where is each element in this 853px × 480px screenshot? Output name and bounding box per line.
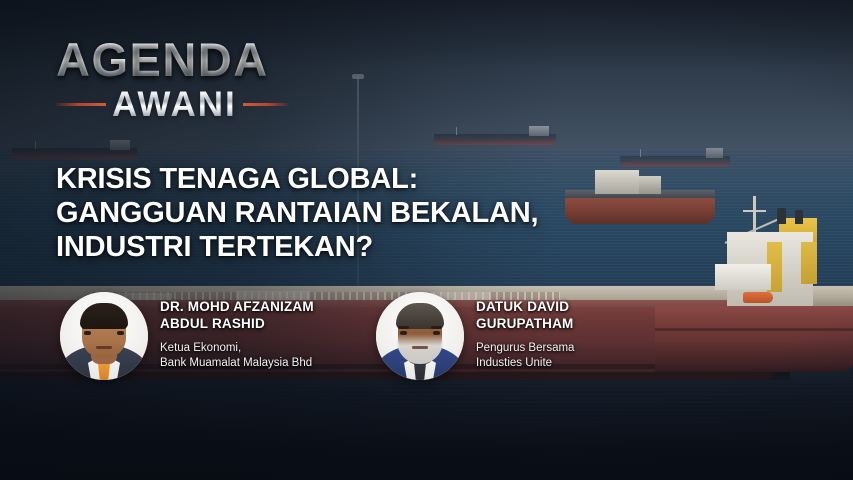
- speaker-2-role-line-2: Industies Unite: [476, 356, 574, 371]
- speaker-1-role-line-2: Bank Muamalat Malaysia Bhd: [160, 356, 314, 371]
- speaker-1-name-line-1: DR. MOHD AFZANIZAM: [160, 299, 314, 315]
- speaker-card-1: DR. MOHD AFZANIZAM ABDUL RASHID Ketua Ek…: [60, 292, 314, 380]
- ship-bridge: [715, 264, 771, 290]
- headline: KRISIS TENAGA GLOBAL: GANGGUAN RANTAIAN …: [56, 163, 676, 265]
- ship-mast: [35, 141, 36, 149]
- speaker-2-text: DATUK DAVID GURUPATHAM Pengurus Bersama …: [476, 299, 574, 372]
- speaker-1-avatar: [60, 292, 148, 380]
- logo-word-awani: AWANI: [112, 87, 237, 122]
- broadcast-thumbnail: AGENDA AWANI KRISIS TENAGA GLOBAL: GANGG…: [0, 0, 853, 480]
- ship-hull-stripe: [655, 328, 853, 331]
- speaker-2-name-line-2: GURUPATHAM: [476, 316, 574, 332]
- avatar-brow-left: [398, 326, 409, 329]
- headline-line-1: KRISIS TENAGA GLOBAL:: [56, 163, 676, 197]
- logo-accent-rule-left: [56, 103, 106, 106]
- sea-foreground-texture: [0, 382, 853, 480]
- distant-tanker-center: [434, 126, 556, 148]
- speaker-1-text: DR. MOHD AFZANIZAM ABDUL RASHID Ketua Ek…: [160, 299, 314, 372]
- logo-second-row: AWANI: [56, 85, 336, 123]
- ship-mast: [456, 127, 457, 135]
- ship-lifeboat: [743, 292, 773, 303]
- logo-word-agenda: AGENDA: [56, 36, 336, 83]
- speaker-1-name-line-2: ABDUL RASHID: [160, 316, 314, 332]
- ship-yellow-panel: [801, 242, 817, 284]
- avatar-brow-left: [82, 326, 93, 329]
- speaker-card-2: DATUK DAVID GURUPATHAM Pengurus Bersama …: [376, 292, 574, 380]
- avatar-mouth: [96, 346, 112, 349]
- distant-tanker-left: [12, 140, 137, 162]
- speaker-2-name-line-1: DATUK DAVID: [476, 299, 574, 315]
- avatar-eye-right: [117, 331, 124, 335]
- headline-line-3: INDUSTRI TERTEKAN?: [56, 231, 676, 265]
- avatar-eye-left: [84, 331, 91, 335]
- harbour-lamp-head: [352, 74, 364, 79]
- speaker-2-role-line-1: Pengurus Bersama: [476, 341, 574, 356]
- avatar-brow-right: [115, 326, 126, 329]
- ship-funnel: [777, 208, 786, 224]
- headline-line-2: GANGGUAN RANTAIAN BEKALAN,: [56, 197, 676, 231]
- avatar-mouth: [412, 346, 428, 349]
- ship-funnel: [795, 210, 803, 224]
- ship-mast-crossarm: [743, 210, 766, 212]
- ship-superstructure: [529, 126, 549, 136]
- speaker-1-role-line-1: Ketua Ekonomi,: [160, 341, 314, 356]
- speaker-2-avatar: [376, 292, 464, 380]
- foreground-large-tanker: [655, 196, 853, 386]
- agenda-awani-logo: AGENDA AWANI: [56, 36, 336, 123]
- ship-mast: [640, 149, 641, 157]
- avatar-brow-right: [431, 326, 442, 329]
- ship-superstructure: [706, 148, 724, 158]
- ship-superstructure: [110, 140, 130, 150]
- ship-hull: [655, 306, 853, 372]
- logo-accent-rule-right: [243, 103, 289, 106]
